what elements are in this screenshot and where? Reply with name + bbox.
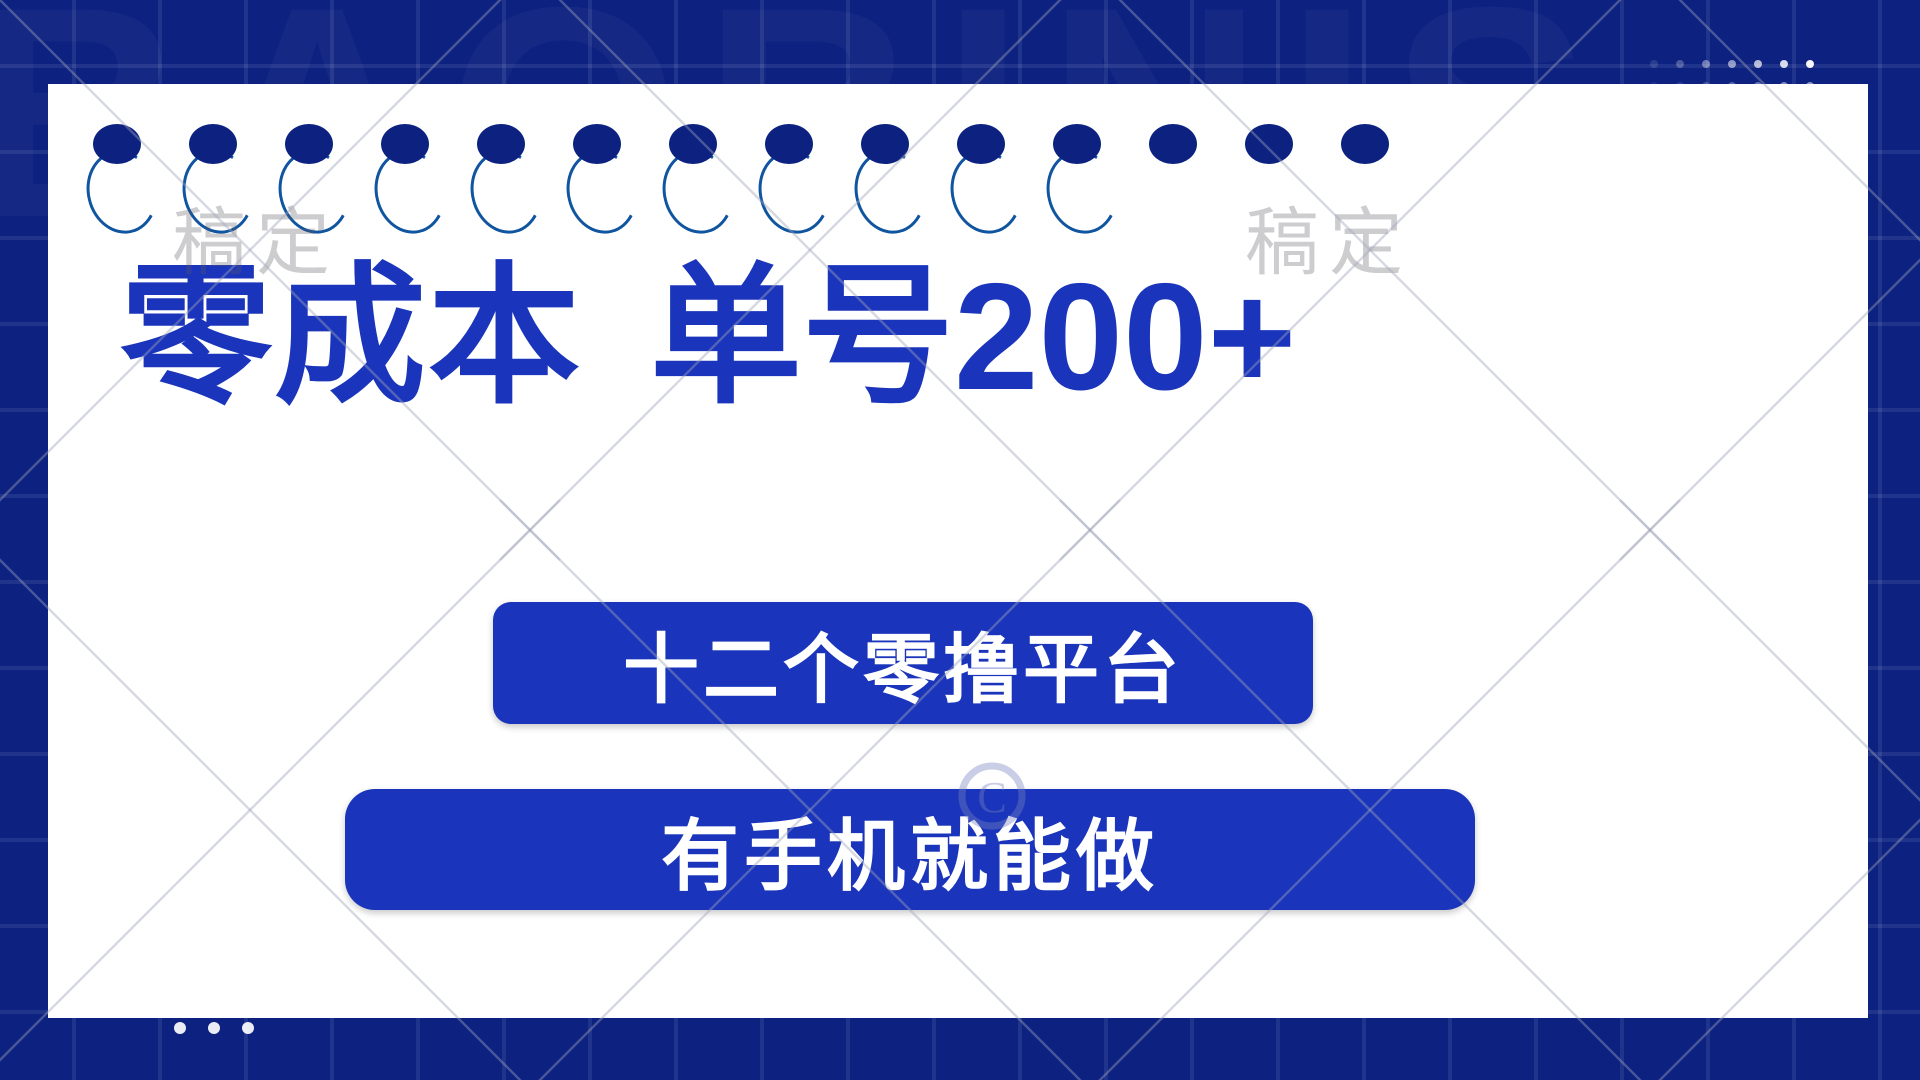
binding-hole xyxy=(573,124,621,164)
poster-canvas: BAOBINIS 零成本 单号200+ 十二个零撸平台 有手机就能做 稿定 稿定… xyxy=(0,0,1920,1080)
pill-platforms-label: 十二个零撸平台 xyxy=(623,608,1183,718)
binding-hole xyxy=(861,124,909,164)
binding-hole xyxy=(1245,124,1293,164)
decorative-dot xyxy=(1780,60,1788,68)
decorative-dot xyxy=(1702,60,1710,68)
page-title: 零成本 单号200+ xyxy=(120,258,1296,418)
decorative-dot xyxy=(1650,60,1658,68)
bottom-dots-decoration xyxy=(174,1022,254,1034)
binding-hole xyxy=(669,124,717,164)
binding-hole xyxy=(381,124,429,164)
decorative-dot xyxy=(1754,60,1762,68)
decorative-dot xyxy=(1806,60,1814,68)
binding-hole xyxy=(1053,124,1101,164)
binding-hole xyxy=(957,124,1005,164)
binding-hole xyxy=(93,124,141,164)
decorative-dot xyxy=(1728,60,1736,68)
bottom-dot xyxy=(208,1022,220,1034)
headline-part-2: 单号200+ xyxy=(650,258,1296,418)
binding-hole xyxy=(1149,124,1197,164)
binding-hole xyxy=(285,124,333,164)
binding-hole xyxy=(1341,124,1389,164)
pill-phone-only[interactable]: 有手机就能做 xyxy=(345,789,1475,910)
binding-hole xyxy=(765,124,813,164)
pill-platforms[interactable]: 十二个零撸平台 xyxy=(493,602,1313,724)
decorative-dot xyxy=(1676,60,1684,68)
bottom-dot xyxy=(242,1022,254,1034)
binding-hole xyxy=(189,124,237,164)
bottom-dot xyxy=(174,1022,186,1034)
binding-hole xyxy=(477,124,525,164)
pill-phone-only-label: 有手机就能做 xyxy=(661,794,1159,906)
headline-part-1: 零成本 xyxy=(120,258,582,418)
spiral-binding xyxy=(48,84,1868,224)
